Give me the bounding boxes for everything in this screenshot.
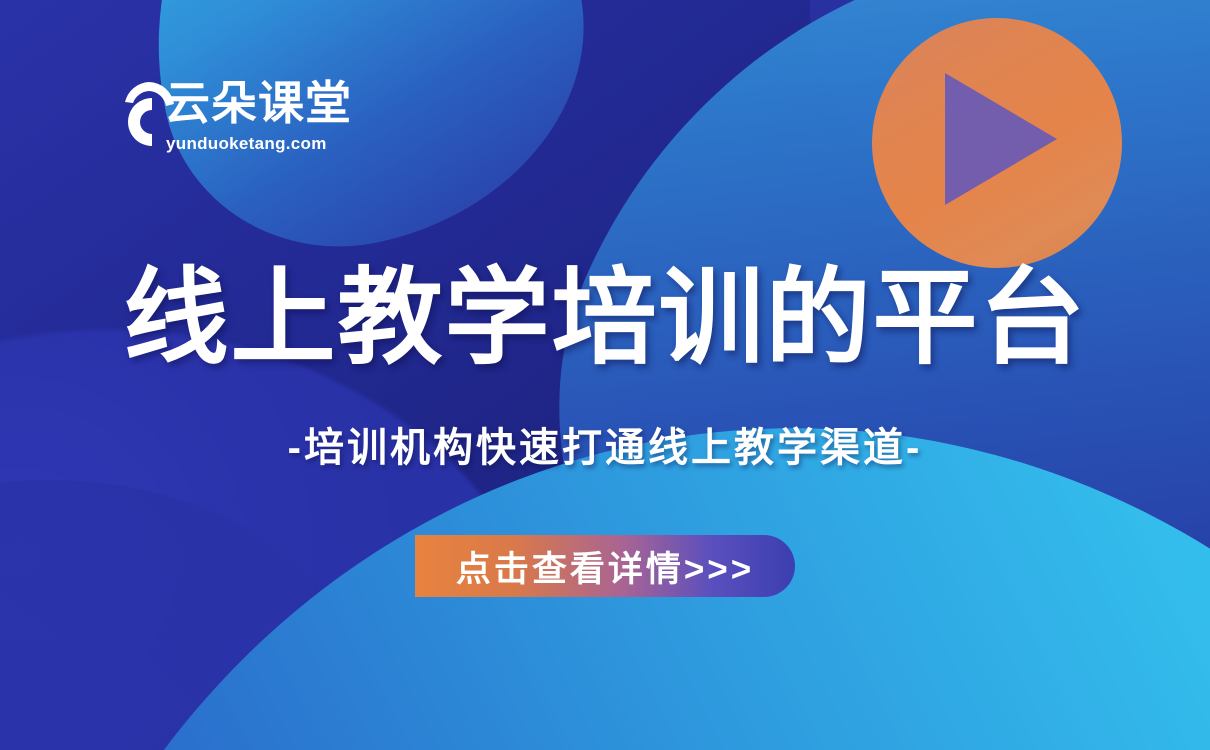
page-title: 线上教学培训的平台 <box>0 262 1210 375</box>
view-details-button-label: 点击查看详情>>> <box>456 541 754 592</box>
brand-name: 云朵课堂 <box>164 80 352 126</box>
page-subtitle: -培训机构快速打通线上教学渠道- <box>0 415 1210 473</box>
play-triangle-icon <box>945 73 1057 205</box>
view-details-button[interactable]: 点击查看详情>>> <box>415 535 795 597</box>
brand-logo: 云朵课堂 yunduoketang.com <box>108 68 348 168</box>
promo-banner: 云朵课堂 yunduoketang.com 线上教学培训的平台 -培训机构快速打… <box>0 0 1210 750</box>
brand-url: yunduoketang.com <box>166 134 327 154</box>
